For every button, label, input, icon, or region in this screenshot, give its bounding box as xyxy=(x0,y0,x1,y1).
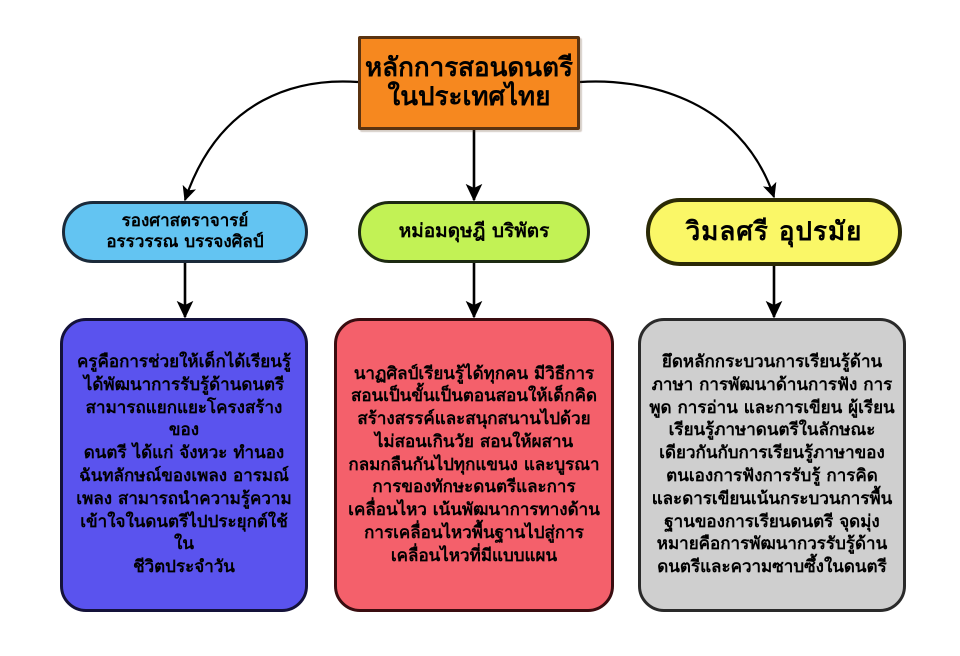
description-panel-0[interactable]: ครูคือการช่วยให้เด็กได้เรียนรู้ ได้พัฒนา… xyxy=(60,318,308,612)
person-node-0-label: รองศาสตราจารย์ อรรวรรณ บรรจงศิลป์ xyxy=(106,211,263,254)
description-panel-2[interactable]: ยึดหลักกระบวนการเรียนรู้ด้าน ภาษา การพัฒ… xyxy=(638,318,906,612)
arrow-root-to-person-0 xyxy=(185,81,358,200)
arrow-root-to-person-2 xyxy=(580,81,774,197)
person-node-1-label: หม่อมดุษฎี บริพัตร xyxy=(399,220,550,244)
root-node-title[interactable]: หลักการสอนดนตรี ในประเทศไทย xyxy=(358,36,580,130)
root-node-label: หลักการสอนดนตรี ในประเทศไทย xyxy=(365,54,573,112)
diagram-canvas: หลักการสอนดนตรี ในประเทศไทย รองศาสตราจาร… xyxy=(0,0,960,656)
description-panel-1-text: นาฏศิลป์เรียนรู้ได้ทุกคน มีวิธีการ สอนเป… xyxy=(348,363,600,568)
person-node-2[interactable]: วิมลศรี อุปรมัย xyxy=(646,198,902,266)
person-node-0[interactable]: รองศาสตราจารย์ อรรวรรณ บรรจงศิลป์ xyxy=(62,201,308,263)
description-panel-2-text: ยึดหลักกระบวนการเรียนรู้ด้าน ภาษา การพัฒ… xyxy=(649,351,894,579)
description-panel-1[interactable]: นาฏศิลป์เรียนรู้ได้ทุกคน มีวิธีการ สอนเป… xyxy=(334,318,614,612)
person-node-2-label: วิมลศรี อุปรมัย xyxy=(686,216,863,249)
person-node-1[interactable]: หม่อมดุษฎี บริพัตร xyxy=(358,201,590,263)
description-panel-0-text: ครูคือการช่วยให้เด็กได้เรียนรู้ ได้พัฒนา… xyxy=(71,351,297,579)
